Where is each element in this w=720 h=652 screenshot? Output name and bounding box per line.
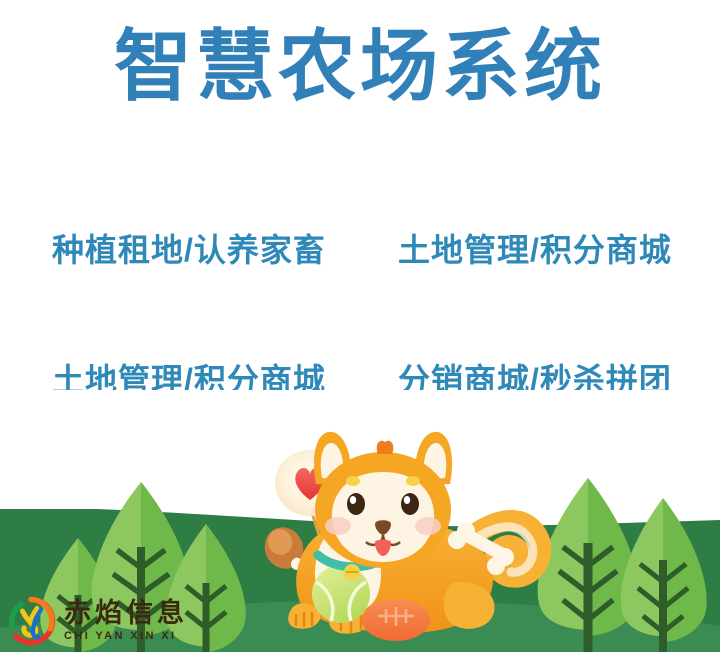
poster-root: 智慧农场系统 种植租地/认养家畜 土地管理/积分商城 土地管理/积分商城 分销商…: [0, 0, 720, 652]
football-icon: [362, 599, 430, 641]
feature-label-1: 种植租地/认养家畜: [52, 228, 326, 272]
tennis-ball-icon: [312, 565, 370, 623]
dog-head: [314, 432, 452, 568]
logo-name-en: CHI YAN XIN XI: [64, 631, 188, 642]
brand-logo: 赤焰信息 CHI YAN XIN XI: [6, 596, 188, 646]
feature-label-2: 土地管理/积分商城: [398, 228, 672, 272]
page-title: 智慧农场系统: [0, 18, 720, 114]
logo-text-block: 赤焰信息 CHI YAN XIN XI: [64, 600, 188, 642]
logo-name-cn: 赤焰信息: [64, 600, 188, 627]
logo-mark-icon: [6, 596, 56, 646]
